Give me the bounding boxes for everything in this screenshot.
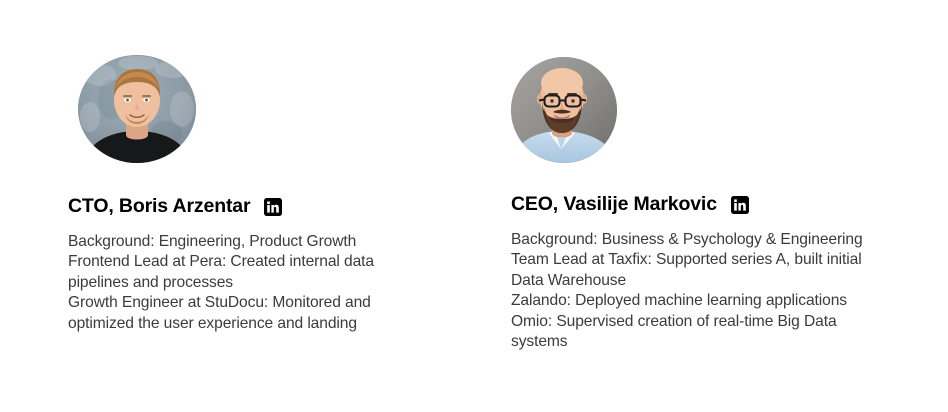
member-title-row: CTO, Boris Arzentar [68,197,488,217]
linkedin-icon[interactable] [731,196,749,214]
member-bio: Background: Engineering, Product Growth … [68,232,413,335]
team-member-card-cto: CTO, Boris Arzentar Background: Engineer… [68,0,488,334]
linkedin-icon[interactable] [264,198,282,216]
member-title: CEO, Vasilije Markovic [511,195,717,215]
portrait-boris-arzentar-image [78,55,196,163]
member-title-row: CEO, Vasilije Markovic [511,195,931,215]
avatar [78,55,196,163]
team-members-section: CTO, Boris Arzentar Background: Engineer… [0,0,948,412]
avatar [511,57,617,163]
member-title: CTO, Boris Arzentar [68,197,250,217]
portrait-vasilije-markovic-image [511,57,617,163]
member-bio: Background: Business & Psychology & Engi… [511,230,863,354]
team-member-card-ceo: CEO, Vasilije Markovic Background: Busin… [511,0,931,353]
